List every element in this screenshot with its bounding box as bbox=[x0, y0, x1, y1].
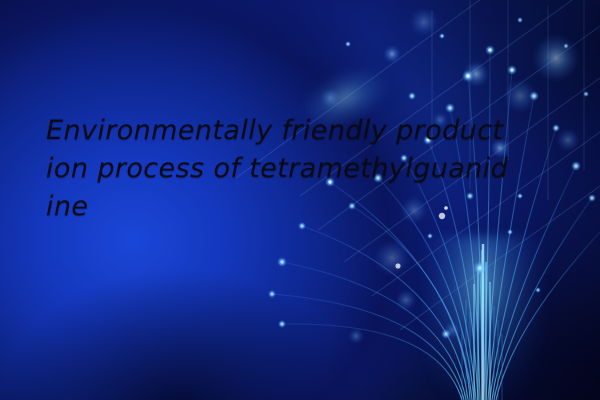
title-line-2: ion process of tetramethylguanid bbox=[46, 150, 566, 188]
banner-image: Environmentally friendly product ion pro… bbox=[0, 0, 600, 400]
title-line-1: Environmentally friendly product bbox=[46, 112, 566, 150]
banner-title: Environmentally friendly product ion pro… bbox=[46, 112, 566, 226]
fiber-core-glow bbox=[424, 236, 544, 400]
title-line-3: ine bbox=[46, 188, 566, 226]
